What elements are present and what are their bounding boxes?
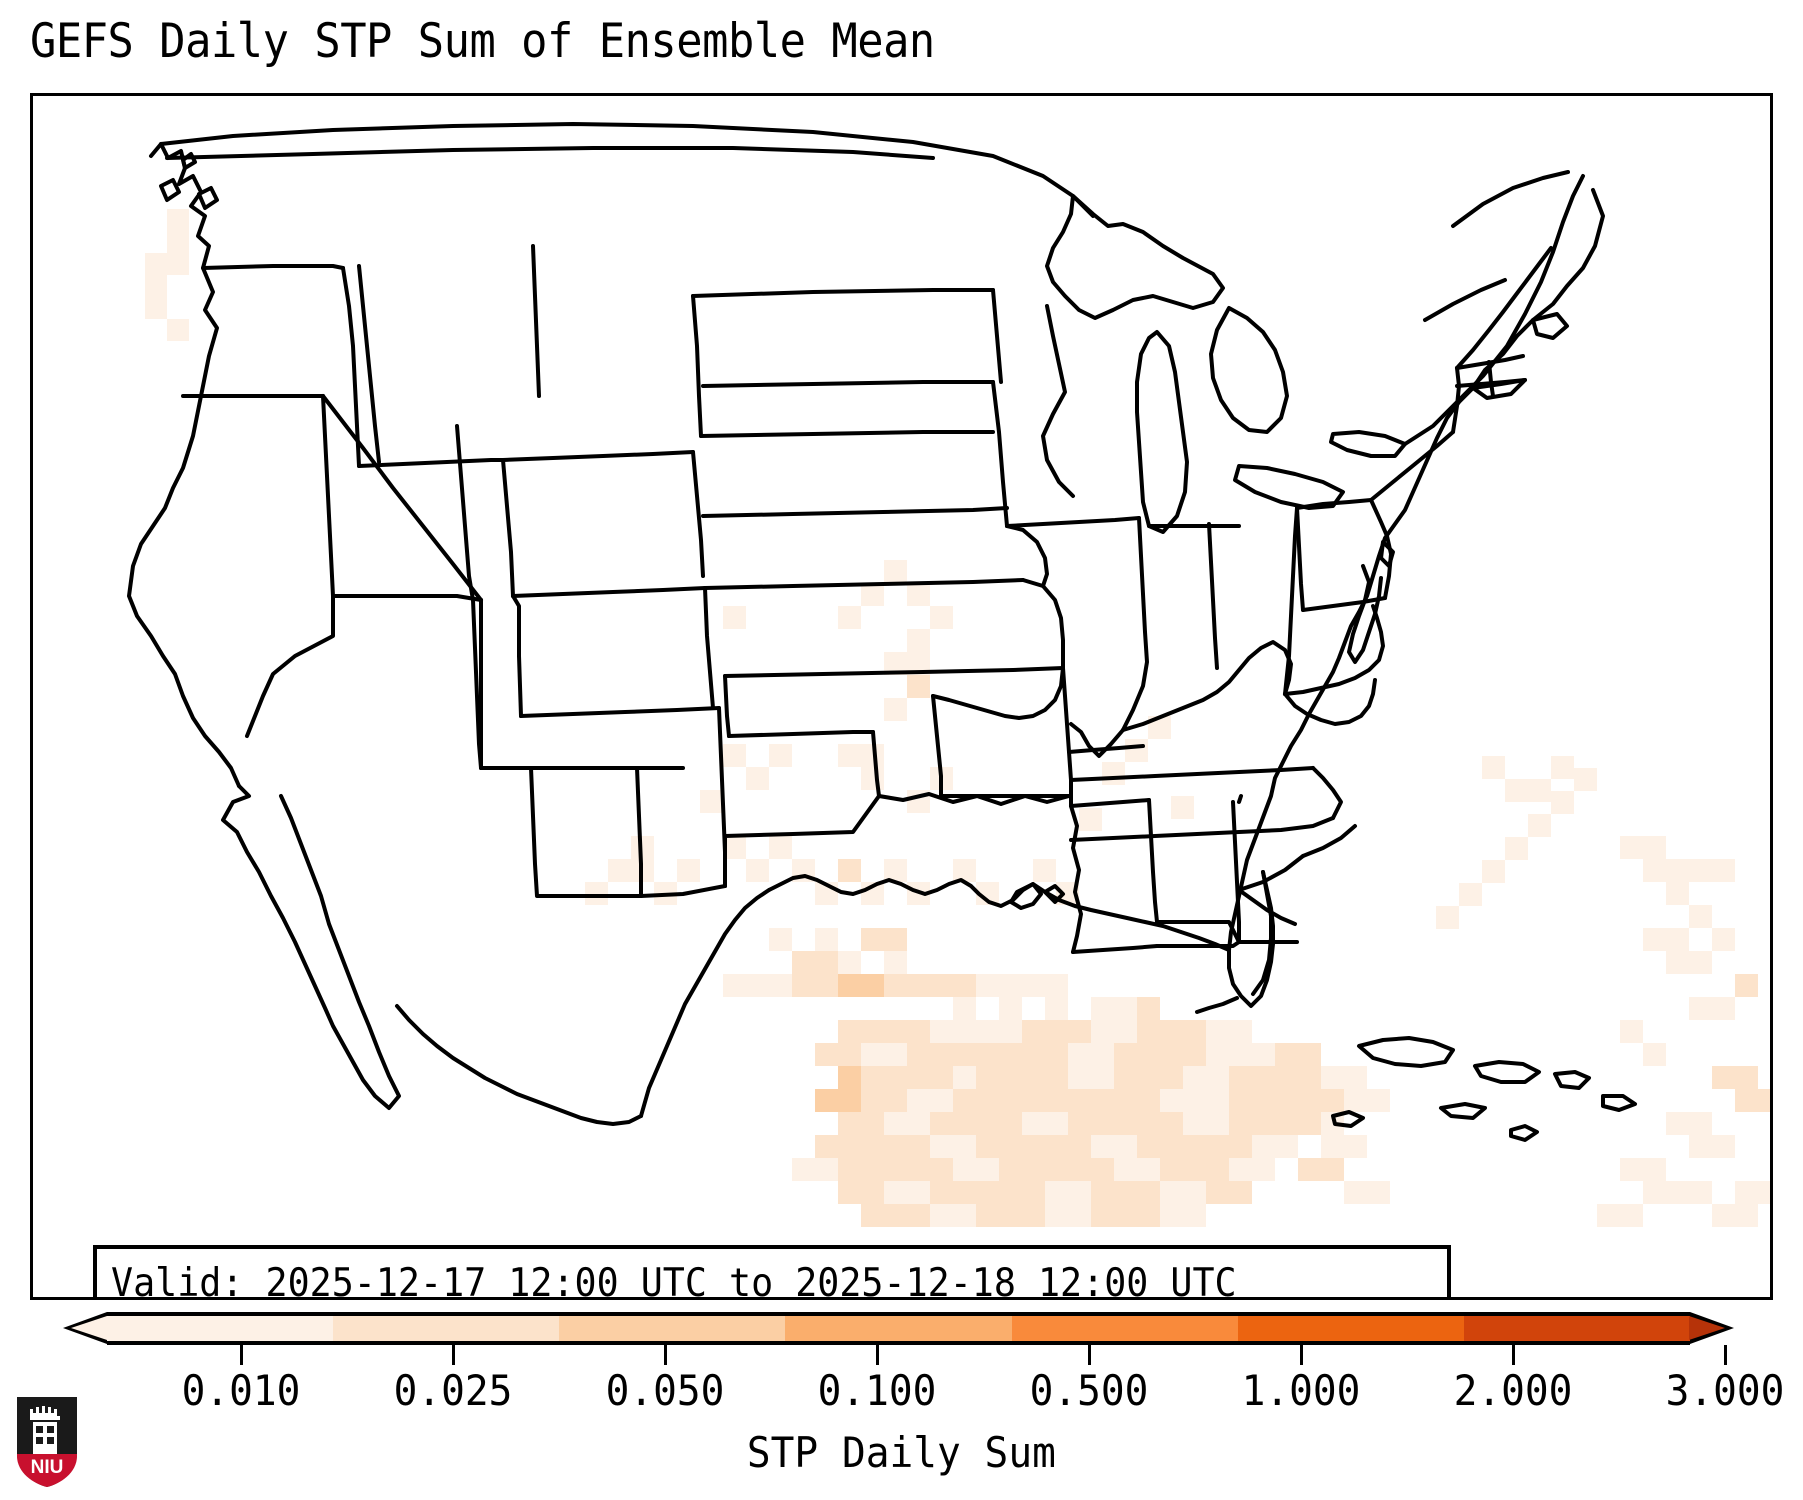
niu-logo: NIU (16, 1396, 78, 1488)
colorbar-over-arrow-fill (1689, 1316, 1725, 1340)
colorbar-tick-label-0: 0.010 (182, 1368, 301, 1414)
colorbar[interactable] (30, 1303, 1773, 1355)
valid-time-line: Valid: 2025-12-17 12:00 UTC to 2025-12-1… (111, 1259, 1367, 1300)
colorbar-band-3[interactable] (785, 1316, 1011, 1341)
niu-shield-icon: NIU (16, 1396, 78, 1488)
colorbar-band-2[interactable] (559, 1316, 785, 1341)
colorbar-band-5[interactable] (1238, 1316, 1464, 1341)
colorbar-tick-0 (240, 1345, 243, 1365)
colorbar-band-6[interactable] (1464, 1316, 1690, 1341)
colorbar-band-4[interactable] (1012, 1316, 1238, 1341)
map-geography-outlines (33, 96, 1770, 1297)
niu-logo-text: NIU (31, 1457, 64, 1478)
colorbar-band-1[interactable] (333, 1316, 559, 1341)
colorbar-band-0[interactable] (107, 1316, 333, 1341)
map-plot-area: Valid: 2025-12-17 12:00 UTC to 2025-12-1… (30, 93, 1773, 1300)
colorbar-tick-label-3: 0.100 (818, 1368, 937, 1414)
colorbar-tick-7 (1724, 1345, 1727, 1365)
colorbar-axis-label: STP Daily Sum (0, 1428, 1803, 1477)
colorbar-axis-label-text: STP Daily Sum (747, 1428, 1056, 1477)
colorbar-tick-label-4: 0.500 (1030, 1368, 1149, 1414)
colorbar-tick-label-2: 0.050 (606, 1368, 725, 1414)
colorbar-tick-2 (664, 1345, 667, 1365)
colorbar-tick-label-1: 0.025 (394, 1368, 513, 1414)
colorbar-tick-4 (1088, 1345, 1091, 1365)
colorbar-tick-6 (1512, 1345, 1515, 1365)
colorbar-tick-1 (452, 1345, 455, 1365)
colorbar-tick-3 (876, 1345, 879, 1365)
colorbar-tick-label-6: 2.000 (1454, 1368, 1573, 1414)
page-title: GEFS Daily STP Sum of Ensemble Mean (30, 14, 935, 70)
colorbar-tick-5 (1300, 1345, 1303, 1365)
colorbar-tick-label-7: 3.000 (1666, 1368, 1785, 1414)
colorbar-under-arrow-fill (71, 1316, 107, 1340)
valid-run-info-box: Valid: 2025-12-17 12:00 UTC to 2025-12-1… (93, 1245, 1451, 1300)
colorbar-tick-label-5: 1.000 (1242, 1368, 1361, 1414)
colorbar-bands[interactable] (107, 1312, 1690, 1345)
